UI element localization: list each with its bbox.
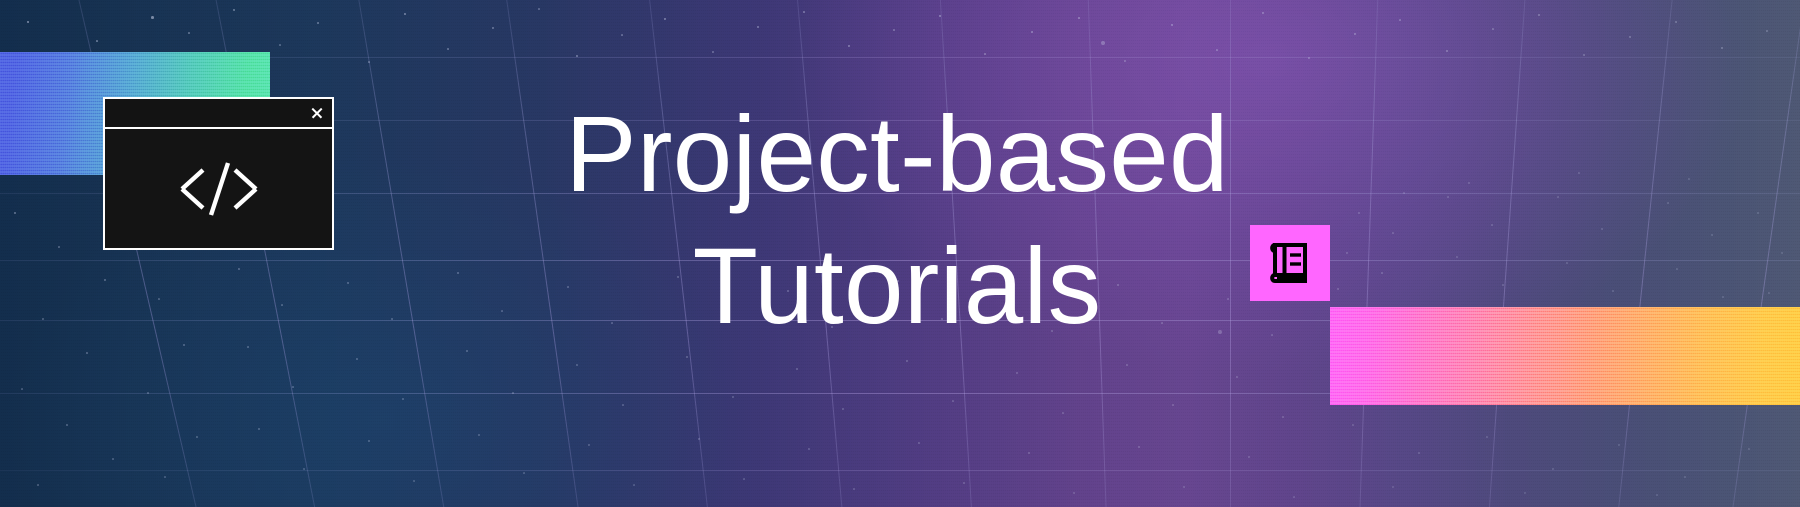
code-brackets-icon bbox=[173, 158, 265, 220]
close-icon[interactable] bbox=[308, 104, 326, 122]
warm-gradient-block bbox=[1330, 307, 1800, 405]
gradient-grain-overlay bbox=[1330, 307, 1800, 405]
code-window-titlebar bbox=[105, 99, 332, 129]
code-window-body bbox=[105, 129, 332, 248]
background-grain bbox=[0, 0, 1800, 507]
tutorials-banner: Project-based Tutorials bbox=[0, 0, 1800, 507]
code-window[interactable] bbox=[103, 97, 334, 250]
book-icon-tile bbox=[1250, 225, 1330, 301]
book-icon bbox=[1266, 239, 1314, 287]
